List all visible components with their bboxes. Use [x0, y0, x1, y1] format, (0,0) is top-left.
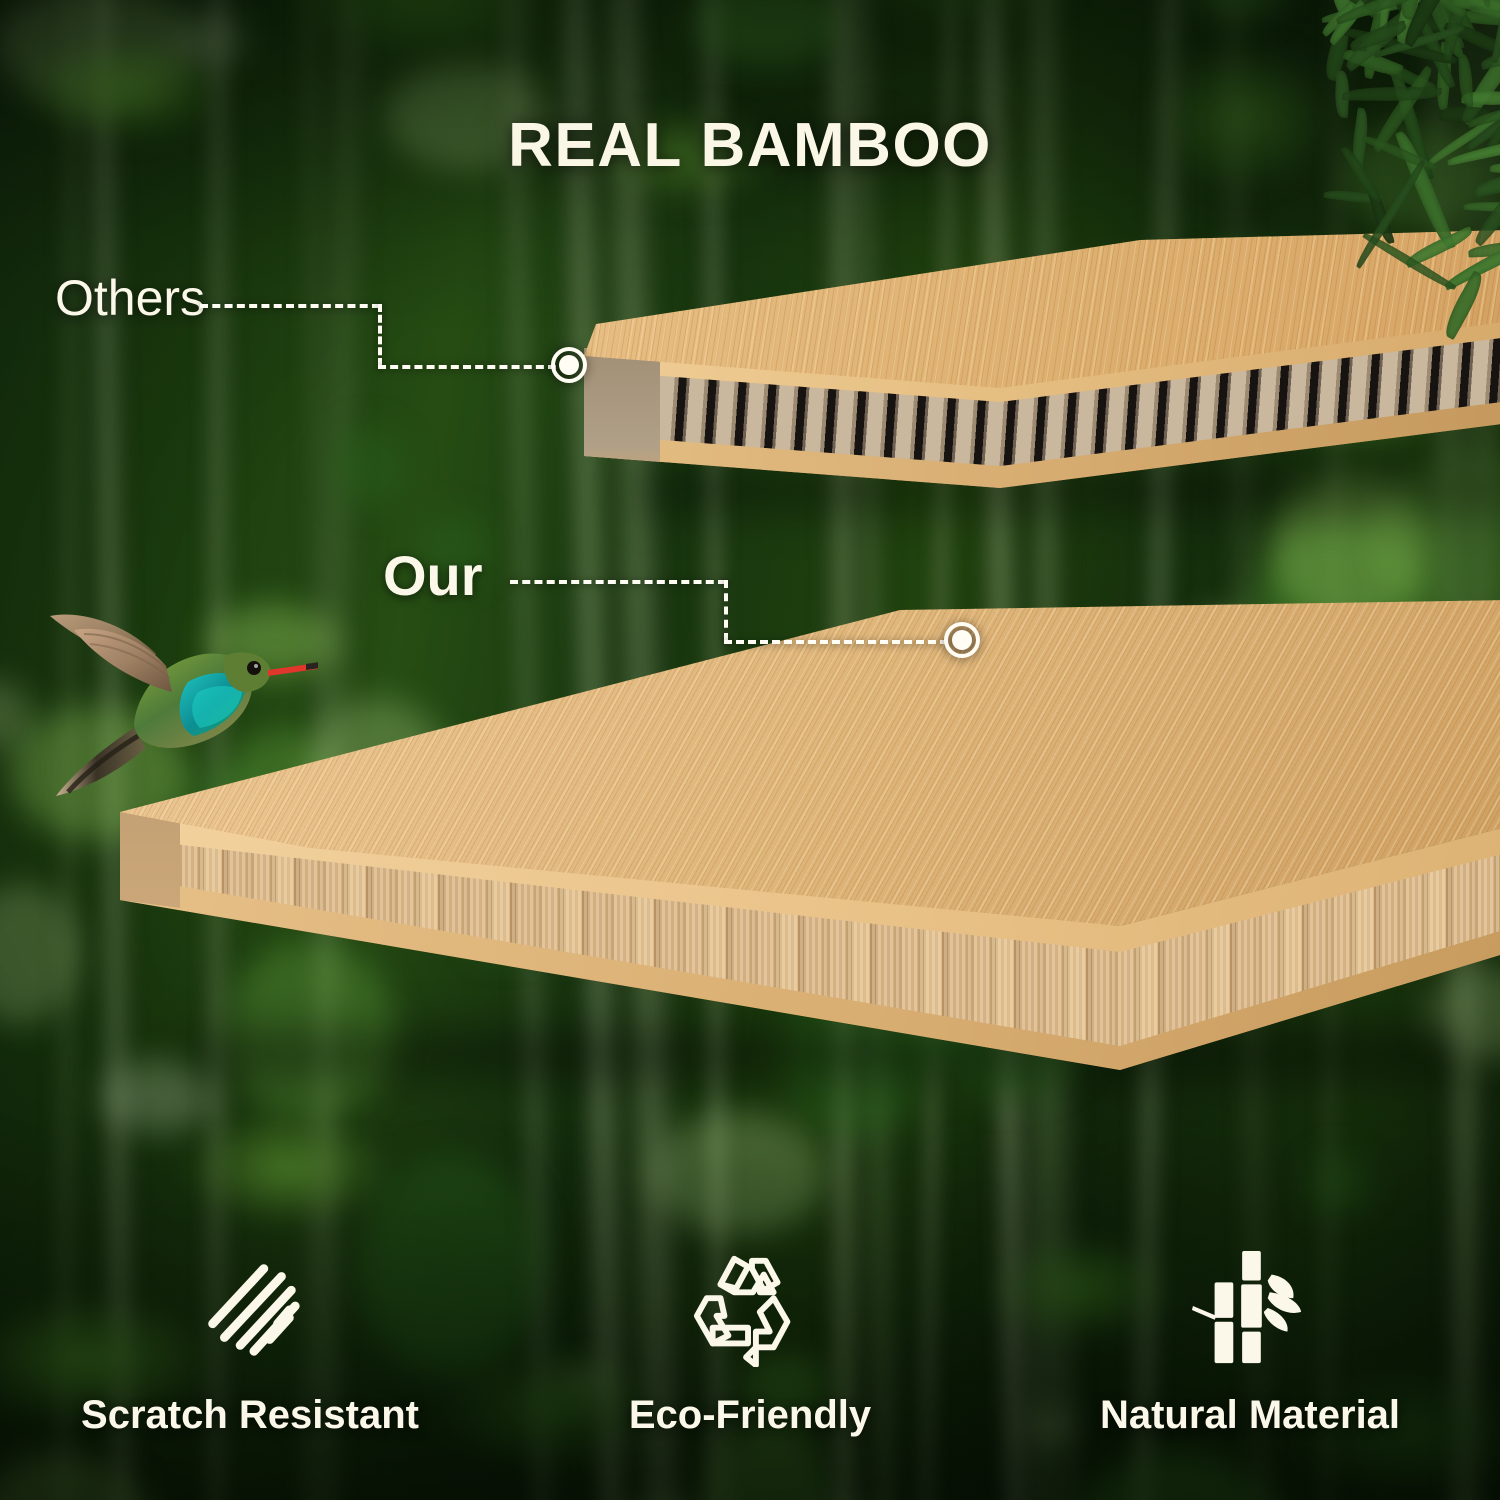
callout-label-our: Our [383, 548, 483, 604]
feature-scratch-resistant: Scratch Resistant [30, 1235, 470, 1438]
feature-label-scratch-resistant: Scratch Resistant [81, 1393, 419, 1438]
bamboo-leaf [1458, 53, 1473, 107]
hummingbird [38, 596, 318, 806]
others-callout-marker [551, 347, 587, 383]
bamboo-leaves-overlay [1050, 0, 1500, 330]
product-feature-image: REAL BAMBOO [0, 0, 1500, 1500]
feature-eco-friendly: Eco-Friendly [530, 1235, 970, 1438]
bamboo-leaf [1472, 170, 1500, 198]
others-leader-line-vertical [378, 304, 382, 366]
bamboo-leaf [1343, 86, 1442, 101]
feature-natural-material: Natural Material [1030, 1235, 1470, 1438]
our-leader-line-vertical [724, 580, 728, 641]
bamboo-stalk-icon [1191, 1235, 1309, 1367]
our-board-solid-bamboo [110, 600, 1500, 1160]
callout-label-others: Others [55, 273, 205, 323]
feature-row: Scratch Resistant [0, 1235, 1500, 1438]
recycle-icon [691, 1235, 809, 1367]
feature-label-eco-friendly: Eco-Friendly [629, 1393, 871, 1438]
our-callout-marker [944, 622, 980, 658]
scratch-lines-icon [191, 1235, 309, 1367]
bamboo-leaf [1490, 160, 1500, 178]
feature-label-natural-material: Natural Material [1100, 1393, 1400, 1438]
our-leader-line-horizontal-2 [724, 640, 948, 644]
our-leader-line-horizontal-1 [510, 580, 726, 584]
others-leader-line-horizontal-2 [378, 365, 556, 369]
others-leader-line-horizontal-1 [200, 304, 380, 308]
